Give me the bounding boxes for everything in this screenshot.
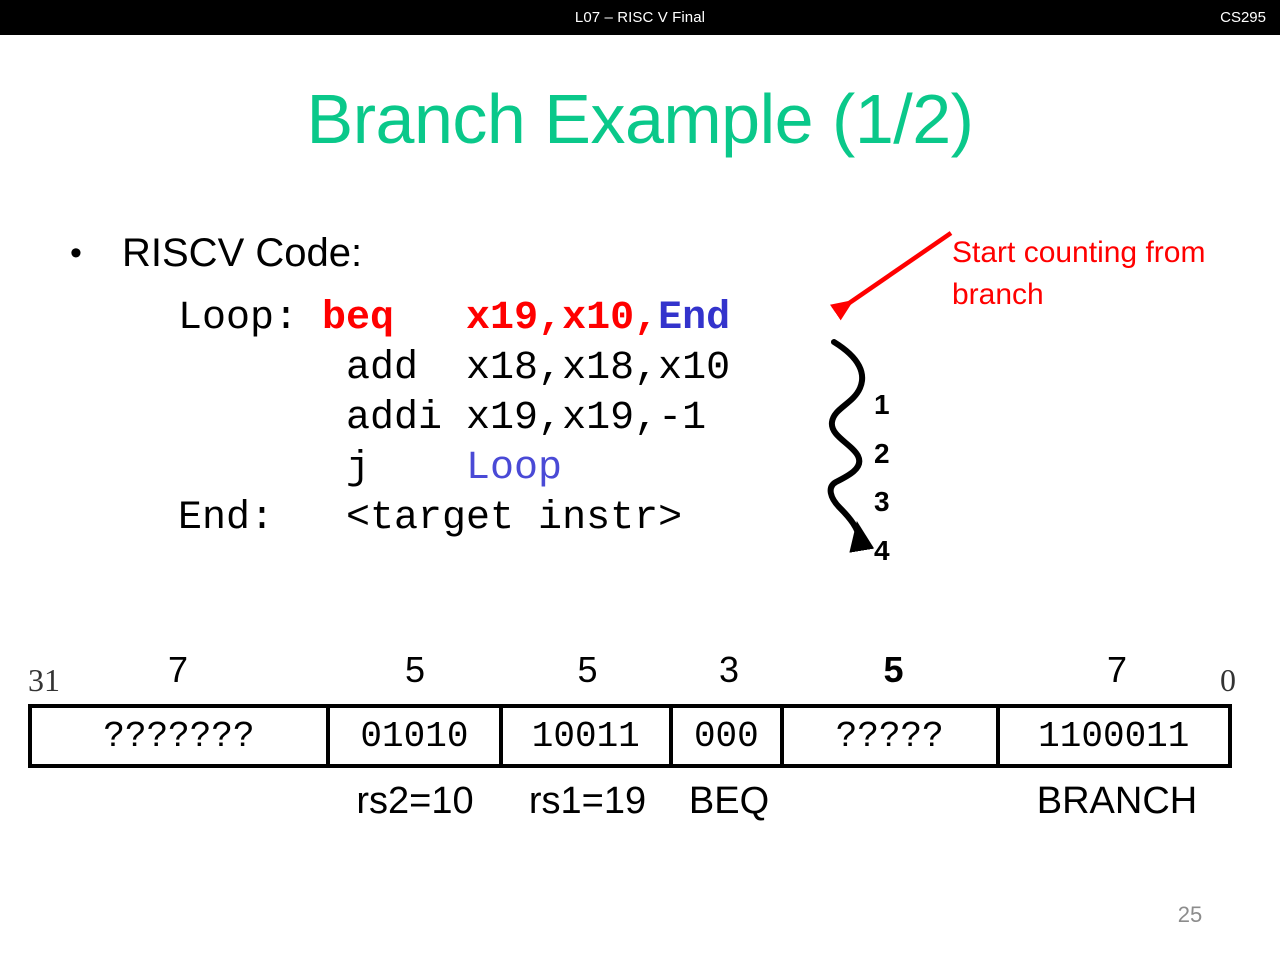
riscv-code-listing: Loop: beq x19,x10,End add x18,x18,x10 ad…: [178, 294, 730, 544]
red-pointer-arrow: [820, 222, 970, 327]
field-width-label: 5: [502, 652, 673, 688]
instruction-field-cell: ?????: [784, 708, 1000, 764]
code-line: Loop: beq x19,x10,End: [178, 294, 730, 344]
instruction-encoding-table: ???????0101010011000?????1100011: [28, 704, 1232, 768]
code-line: add x18,x18,x10: [178, 344, 730, 394]
code-token: j: [178, 446, 466, 491]
counter-2: 2: [874, 440, 890, 468]
instruction-field-cell: 000: [673, 708, 784, 764]
instruction-field-cell: 10011: [503, 708, 673, 764]
page-title: Branch Example (1/2): [0, 78, 1280, 160]
code-line: addi x19,x19,-1: [178, 394, 730, 444]
annotation-start-counting: Start counting from branch: [952, 232, 1262, 316]
course-code: CS295: [1220, 0, 1266, 35]
code-token: Loop:: [178, 296, 322, 341]
bullet-marker-icon: •: [70, 228, 122, 278]
code-token: Loop: [466, 446, 562, 491]
code-token: addi x19,x19,-1: [178, 396, 706, 441]
field-meaning-label: BEQ: [673, 780, 785, 822]
field-width-label: 5: [785, 652, 1002, 688]
counter-4: 4: [874, 537, 890, 565]
field-width-label: 5: [328, 652, 502, 688]
code-token: End: <target instr>: [178, 496, 682, 541]
field-width-label: 3: [673, 652, 785, 688]
slide-number: 25: [1160, 902, 1220, 928]
code-token: beq x19,x10,: [322, 296, 658, 341]
field-meaning-label: BRANCH: [1002, 780, 1232, 822]
counter-3: 3: [874, 488, 890, 516]
code-line: j Loop: [178, 444, 730, 494]
instruction-field-cell: 01010: [330, 708, 503, 764]
bullet-item-label: RISCV Code:: [122, 228, 362, 278]
counter-1: 1: [874, 391, 890, 419]
lecture-title: L07 – RISC V Final: [0, 0, 1280, 35]
field-meaning-label: rs1=19: [502, 780, 673, 822]
instruction-field-cell: 1100011: [1000, 708, 1228, 764]
code-token: End: [658, 296, 730, 341]
field-width-label: 7: [1002, 652, 1232, 688]
field-width-label: 7: [28, 652, 328, 688]
code-token: add x18,x18,x10: [178, 346, 730, 391]
field-meaning-label: rs2=10: [328, 780, 502, 822]
instruction-field-cell: ???????: [32, 708, 330, 764]
code-line: End: <target instr>: [178, 494, 730, 544]
bullet-item-riscv-code: •RISCV Code:: [70, 228, 362, 278]
